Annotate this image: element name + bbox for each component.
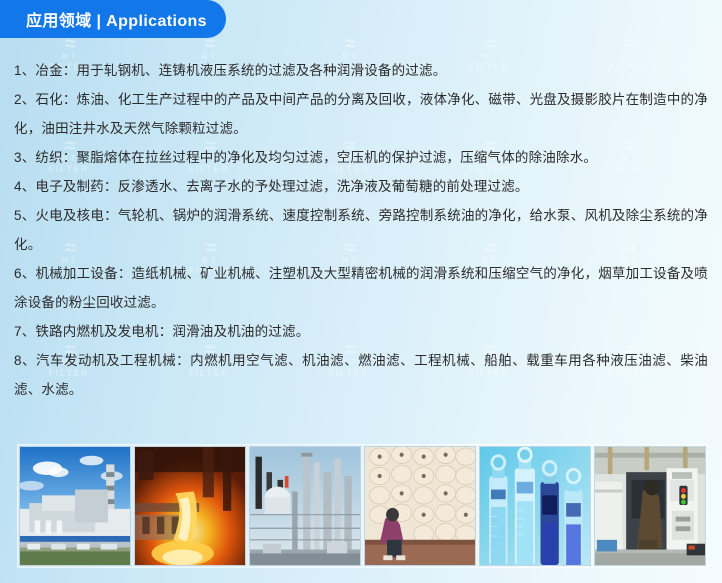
- watermark-logo-icon: ≈: [10, 36, 128, 52]
- refinery-photo: [249, 446, 361, 566]
- watermark-logo-icon: ≈: [150, 36, 268, 52]
- textile-mill-photo: [364, 446, 476, 566]
- applications-page: ≈ N T FILTER ≈ N T FILTER ≈ N T FILTER ≈…: [0, 0, 722, 583]
- application-item-7: 7、铁路内燃机及发电机：润滑油及机油的过滤。: [14, 317, 708, 346]
- application-item-4: 4、电子及制药：反渗透水、去离子水的予处理过滤，洗净液及葡萄糖的前处理过滤。: [14, 172, 708, 201]
- cnc-machine-shop-photo: [594, 446, 706, 566]
- application-item-8: 8、汽车发动机及工程机械：内燃机用空气滤、机油滤、燃油滤、工程机械、船舶、载重车…: [14, 346, 708, 404]
- application-item-1: 1、冶金：用于轧钢机、连铸机液压系统的过滤及各种润滑设备的过滤。: [14, 56, 708, 85]
- watermark-logo-icon: ≈: [290, 36, 408, 52]
- watermark-logo-icon: ≈: [430, 36, 548, 52]
- page-title: 应用领域 | Applications: [0, 7, 207, 31]
- application-item-3: 3、纺织：聚脂熔体在拉丝过程中的净化及均匀过滤，空压机的保护过滤，压缩气体的除油…: [14, 143, 708, 172]
- application-item-5: 5、火电及核电：气轮机、锅炉的润滑系统、速度控制系统、旁路控制系统油的净化，给水…: [14, 201, 708, 259]
- applications-list: 1、冶金：用于轧钢机、连铸机液压系统的过滤及各种润滑设备的过滤。 2、石化：炼油…: [14, 56, 708, 404]
- application-item-2: 2、石化：炼油、化工生产过程中的产品及中间产品的分离及回收，液体净化、磁带、光盘…: [14, 85, 708, 143]
- section-header-pill: 应用领域 | Applications: [0, 0, 226, 38]
- power-plant-photo: [19, 446, 131, 566]
- application-photo-gallery: [17, 444, 708, 568]
- application-item-6: 6、机械加工设备：造纸机械、矿业机械、注塑机及大型精密机械的润滑系统和压缩空气的…: [14, 259, 708, 317]
- lab-vials-photo: [479, 446, 591, 566]
- steel-furnace-photo: [134, 446, 246, 566]
- watermark-logo-icon: ≈: [570, 36, 688, 52]
